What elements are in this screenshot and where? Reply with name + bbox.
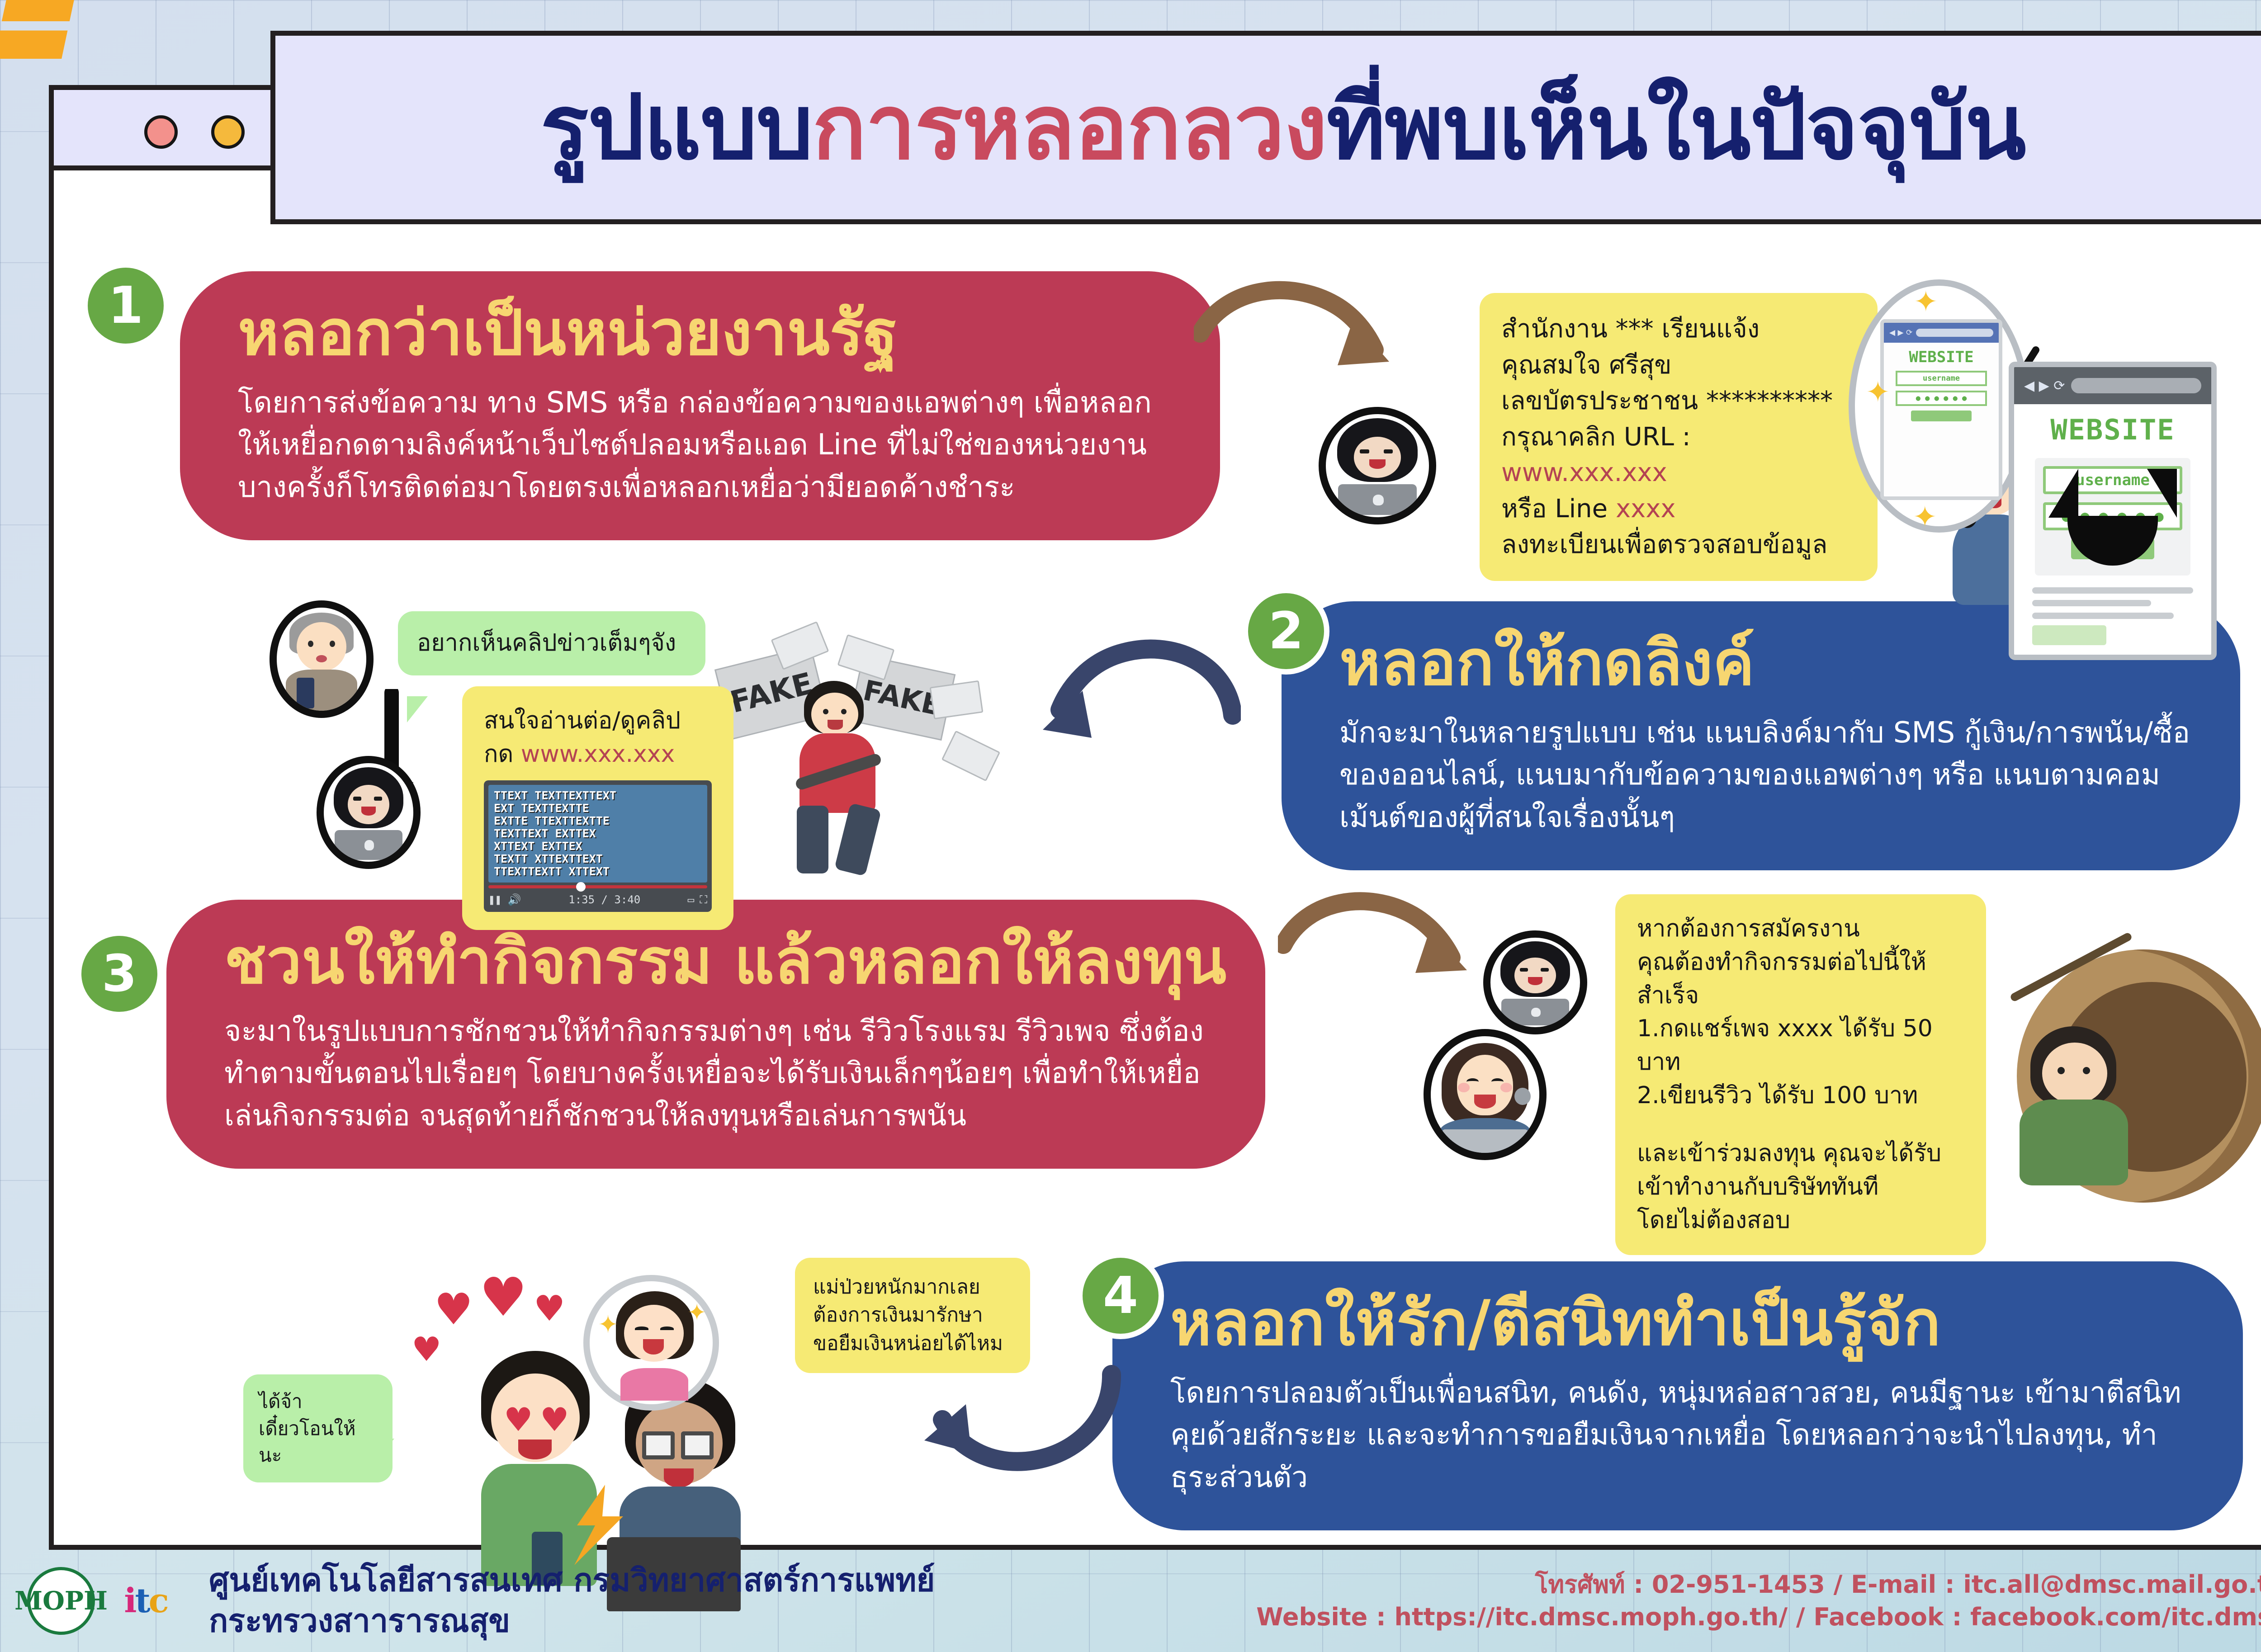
heart-icon-2: ♥ (479, 1270, 527, 1324)
footer-bar: MOPH itc ศูนย์เทคโนโลยีสารสนเทศ กรมวิทยา… (0, 1550, 2261, 1652)
sms-url-value[interactable]: www.xxx.xxx (1501, 458, 1667, 487)
borrow-line-3: ขอยืมเงินหน่อยได้ไหม (813, 1330, 1012, 1358)
lover-mouth (518, 1440, 552, 1459)
section-body-4: โดยการปลอมตัวเป็นเพื่อนสนิท, คนดัง, หนุ่… (1170, 1372, 2201, 1499)
hacker-eye-right-3 (1541, 968, 1549, 972)
section-body-2: มักจะมาในหลายรูปแบบ เช่น แนบลิงค์มากับ S… (1339, 712, 2199, 839)
itc-logo-i: i (124, 1581, 135, 1620)
video-progress-handle[interactable] (576, 882, 586, 892)
hacker-mouth-2 (361, 807, 376, 816)
video-timestamp: 1:35 / 3:40 (521, 892, 688, 907)
clickbait-line-1: สนใจอ่านต่อ/ดูคลิป (484, 704, 712, 738)
website-login-form: username ● ● ● ● ● ● (2035, 458, 2190, 576)
wish-bubble-tail (407, 696, 428, 722)
phone-url-pill[interactable] (1916, 329, 1993, 337)
video-line-4: TEXTTEXT EXTTEX (494, 827, 702, 840)
badge-number-3: 3 (102, 944, 137, 1003)
badge-number-4: 4 (1103, 1266, 1138, 1325)
elderly-mouth (316, 655, 327, 662)
arrow-curved-brown-3 (1278, 886, 1477, 1031)
sms-line-1: สำนักงาน *** เรียนแจ้ง (1501, 311, 1856, 347)
elderly-eye-right (330, 641, 335, 647)
hacker-mouth-3 (1528, 977, 1542, 985)
elderly-victim-avatar (270, 600, 374, 718)
elderly-phone (297, 678, 315, 708)
fake-website-card: ◀ ▶ ⟳ WEBSITE username ● ● ● ● ● ● (2009, 362, 2217, 660)
runner-leg-left (797, 806, 828, 873)
video-line-3: EXTTE TTEXTTEXTTE (494, 815, 702, 827)
itc-logo-t: t (135, 1581, 148, 1620)
sms-line-6: ลงทะเบียนเพื่อตรวจสอบข้อมูล (1501, 527, 1856, 563)
section-card-1: หลอกว่าเป็นหน่วยงานรัฐ โดยการส่งข้อความ … (180, 271, 1220, 540)
runner-eye-left (823, 709, 828, 714)
phone-submit-button[interactable] (1911, 411, 1972, 421)
runner-eye-right (841, 709, 847, 714)
girl-sparkle-right: ✦ (687, 1299, 706, 1326)
section-body-1: โดยการส่งข้อความ ทาง SMS หรือ กล่องข้อคว… (238, 382, 1178, 509)
arrow-curved-navy-2 (1024, 633, 1241, 782)
evil-eye-right-icon (2147, 469, 2177, 518)
website-filler-text (2032, 587, 2193, 645)
sms-line-label: หรือ Line (1501, 494, 1616, 524)
hacker-illustration (1326, 414, 1429, 517)
agree-line-2: เดี๋ยวโอนให้นะ (259, 1415, 377, 1469)
borrow-line-2: ต้องการเงินมารักษา (813, 1301, 1012, 1329)
badge-number-2: 2 (1268, 602, 1304, 661)
sms-line-3: เลขบัตรประชาชน ********** (1501, 383, 1856, 419)
video-line-5: XTTEXT EXTTEX (494, 840, 702, 853)
heart-icon-3: ♥ (534, 1291, 565, 1326)
evil-eye-left-icon (2048, 469, 2078, 518)
section-card-3: ชวนให้ทำกิจกรรม แล้วหลอกให้ลงทุน จะมาในร… (166, 900, 1265, 1169)
elderly-face (297, 622, 347, 671)
phone-browser-bar: ◀ ▶ ⟳ (1884, 323, 1999, 343)
job-line-8: โดยไม่ต้องสอบ (1637, 1204, 1964, 1237)
title-highlight: การหลอกลวง (812, 75, 1326, 179)
itc-logo-c: c (149, 1581, 167, 1620)
hacker-mouth (1369, 459, 1386, 469)
job-line-1: หากต้องการสมัครงาน (1637, 912, 1964, 946)
volume-icon[interactable]: 🔊 (508, 892, 521, 907)
section-heading-1: หลอกว่าเป็นหน่วยงานรัฐ (238, 299, 1178, 367)
trapped-person-shirt (2020, 1100, 2128, 1185)
footer-org-line-1: ศูนย์เทคโนโลยีสารสนเทศ กรมวิทยาศาสตร์การ… (209, 1560, 935, 1601)
video-progress-bar[interactable] (488, 885, 707, 888)
hacker-eye-left-3 (1520, 968, 1528, 972)
hacker-laptop (1338, 484, 1416, 515)
sparkle-icon-2: ✦ (1866, 378, 1890, 407)
hacker-illustration-2 (324, 763, 413, 862)
section-heading-3: ชวนให้ทำกิจกรรม แล้วหลอกให้ลงทุน (224, 928, 1224, 995)
sms-line-id[interactable]: xxxx (1616, 494, 1676, 524)
hacker-eye-right-2 (374, 797, 382, 801)
borrow-money-bubble: แม่ป่วยหนักมากเลย ต้องการเงินมารักษา ขอย… (795, 1258, 1030, 1373)
sms-bubble-tail (0, 0, 74, 59)
job-line-4: 2.เขียนรีวิว ได้รับ 100 บาท (1637, 1079, 1964, 1113)
agent-laptop (1442, 1129, 1528, 1153)
clickbait-line-2: กด www.xxx.xxx (484, 738, 712, 771)
hacker-face-skin-3 (1514, 958, 1556, 993)
clickbait-bubble: สนใจอ่านต่อ/ดูคลิป กด www.xxx.xxx TTEXT … (462, 686, 733, 930)
phone-mockup: ◀ ▶ ⟳ WEBSITE username ● ● ● ● ● ● (1880, 319, 2002, 500)
section-badge-1: 1 (82, 262, 169, 349)
section-badge-3: 3 (76, 930, 163, 1017)
fullscreen-icon[interactable]: ⛶ (700, 892, 707, 907)
hacker-illustration-3 (1490, 938, 1580, 1027)
video-controls: ❚❚ 🔊 1:35 / 3:40 ▭ ⛶ (488, 892, 707, 907)
footer-org-line-2: กระทรวงสาารารณสุข (209, 1601, 935, 1642)
footer-contact-info: โทรศัพท์ : 02-951-1453 / E-mail : itc.al… (1256, 1568, 2261, 1634)
trapped-person-eye-right (2083, 1067, 2090, 1074)
footer-contact-line-2[interactable]: Website : https://itc.dmsc.moph.go.th/ /… (1256, 1601, 2261, 1633)
moph-logo: MOPH (27, 1567, 95, 1635)
headset-icon (1514, 1088, 1531, 1105)
job-line-6: และเข้าร่วมลงทุน คุณจะได้รับ (1637, 1137, 1964, 1171)
agent-eye-left (1466, 1078, 1478, 1085)
video-line-2: EXT TEXTTEXTTE (494, 802, 702, 815)
scammer-mouth (664, 1468, 694, 1487)
clickbait-url[interactable]: www.xxx.xxx (521, 741, 675, 768)
footer-logos: MOPH itc (27, 1567, 182, 1635)
scammer-glasses-left (642, 1431, 675, 1459)
hacker-face-skin-2 (348, 785, 389, 824)
runner-mouth (828, 720, 843, 730)
hacker-avatar-3 (1483, 930, 1587, 1034)
sparkle-icon-3: ✦ (1913, 503, 1937, 532)
girl-mouth (643, 1339, 664, 1355)
job-offer-bubble: หากต้องการสมัครงาน คุณต้องทำกิจกรรมต่อไป… (1615, 894, 1986, 1255)
sms-url-label: กรุณาคลิก URL : (1501, 422, 1691, 452)
job-spacer (1637, 1113, 1964, 1137)
heart-eye-right-icon: ♥ (540, 1403, 569, 1436)
page-title: รูปแบบการหลอกลวงที่พบเห็นในปัจจุบัน (540, 83, 2025, 172)
phone-website-label: WEBSITE (1884, 348, 1999, 366)
close-dot[interactable] (144, 115, 178, 149)
section-card-4: หลอกให้รัก/ตีสนิททำเป็นรู้จัก โดยการปลอม… (1112, 1261, 2243, 1530)
video-line-7: TTEXTTEXTT XTTEXT (494, 865, 702, 878)
hacker-face-skin (1354, 437, 1401, 478)
agree-transfer-bubble: ได้จ้า เดี๋ยวโอนให้นะ (243, 1374, 393, 1482)
moph-logo-text: MOPH (14, 1586, 108, 1616)
sms-message-bubble: สำนักงาน *** เรียนแจ้ง คุณสมใจ ศรีสุข เล… (1480, 293, 1878, 581)
heart-icon-4: ♥ (412, 1333, 441, 1366)
pause-icon[interactable]: ❚❚ (488, 892, 501, 907)
job-line-3: 1.กดแชร์เพจ xxxx ได้รับ 50 บาท (1637, 1012, 1964, 1079)
title-banner: รูปแบบการหลอกลวงที่พบเห็นในปัจจุบัน (270, 31, 2261, 224)
running-scammer-illustration (751, 665, 941, 882)
footer-contact-line-1[interactable]: โทรศัพท์ : 02-951-1453 / E-mail : itc.al… (1256, 1568, 2261, 1601)
minimize-dot[interactable] (211, 115, 245, 149)
hacker-laptop-2 (335, 830, 402, 859)
girl-shirt (620, 1368, 688, 1401)
video-line-1: TTEXT TEXTTEXTTEXT (494, 789, 702, 802)
job-line-2: คุณต้องทำกิจกรรมต่อไปนี้ให้สำเร็จ (1637, 946, 1964, 1013)
website-nav-icons: ◀ ▶ ⟳ (2024, 378, 2065, 394)
badge-number-1: 1 (108, 276, 143, 335)
section-badge-2: 2 (1243, 588, 1329, 675)
phone-nav-icons: ◀ ▶ ⟳ (1889, 328, 1912, 337)
skull-icon-3 (1531, 1008, 1541, 1017)
scammer-glasses-right (681, 1431, 714, 1459)
phone-password-field[interactable]: ● ● ● ● ● ● (1896, 391, 1987, 406)
agent-mouth (1474, 1095, 1496, 1109)
runner-leg-right (834, 803, 881, 876)
clickbait-label: กด (484, 741, 521, 768)
job-line-7: เข้าทำงานกับบริษัททันที (1637, 1171, 1964, 1204)
video-line-6: TEXTT XTTEXTTEXT (494, 853, 702, 865)
hacker-eye-right (1384, 449, 1393, 453)
phone-username-field[interactable]: username (1896, 371, 1987, 386)
section-heading-4: หลอกให้รัก/ตีสนิททำเป็นรู้จัก (1170, 1289, 2201, 1357)
title-part-1: รูปแบบ (540, 75, 812, 179)
itc-logo: itc (109, 1567, 182, 1635)
girl-eye-left (635, 1326, 648, 1331)
video-subtitle-lines: TTEXT TEXTTEXTTEXT EXT TEXTTEXTTE EXTTE … (494, 789, 702, 878)
video-player[interactable]: TTEXT TEXTTEXTTEXT EXT TEXTTEXTTE EXTTE … (484, 780, 712, 912)
website-url-pill[interactable] (2071, 378, 2201, 393)
title-part-2: ที่พบเห็นในปัจจุบัน (1327, 75, 2025, 179)
heart-icon-1: ♥ (434, 1288, 473, 1331)
infographic-poster: รูปแบบการหลอกลวงที่พบเห็นในปัจจุบัน 1 หล… (0, 0, 2261, 1652)
trapped-person-eye-left (2058, 1067, 2065, 1074)
agent-eye-right (1491, 1078, 1503, 1085)
trapped-person-face (2042, 1043, 2107, 1104)
website-title-label: WEBSITE (2014, 413, 2211, 446)
idealized-partner-thought-bubble: ✦ ✦ (583, 1275, 719, 1411)
hacker-avatar-2 (317, 756, 421, 869)
girl-eye-right (660, 1326, 674, 1331)
sms-line-4: กรุณาคลิก URL : www.xxx.xxx (1501, 419, 1856, 491)
video-screen: TTEXT TEXTTEXTTEXT EXT TEXTTEXTTE EXTTE … (488, 785, 707, 883)
hacker-eye-left-2 (353, 797, 361, 801)
arrow-curved-brown-1 (1194, 277, 1406, 426)
footer-organization: ศูนย์เทคโนโลยีสารสนเทศ กรมวิทยาศาสตร์การ… (209, 1560, 935, 1641)
theater-mode-icon[interactable]: ▭ (688, 892, 694, 907)
heart-eye-left-icon: ♥ (504, 1403, 533, 1436)
sms-line-5: หรือ Line xxxx (1501, 491, 1856, 527)
elderly-eye-left (308, 641, 313, 647)
call-agent-avatar (1424, 1029, 1547, 1160)
sms-line-2: คุณสมใจ ศรีสุข (1501, 347, 1856, 383)
sparkle-icon-1: ✦ (1914, 288, 1938, 316)
borrow-line-1: แม่ป่วยหนักมากเลย (813, 1273, 1012, 1301)
website-browser-bar: ◀ ▶ ⟳ (2014, 367, 2211, 404)
skull-icon (1373, 495, 1384, 505)
girl-sparkle-left: ✦ (598, 1310, 618, 1339)
section-body-3: จะมาในรูปแบบการชักชวนให้ทำกิจกรรมต่างๆ เ… (224, 1010, 1224, 1137)
hacker-eye-left (1360, 449, 1369, 453)
wish-message-bubble: อยากเห็นคลิปข่าวเต็มๆจัง (398, 611, 705, 675)
skull-icon-2 (364, 840, 374, 850)
hacker-laptop-3 (1501, 999, 1569, 1025)
hacker-avatar-1 (1319, 407, 1436, 524)
wish-text: อยากเห็นคลิปข่าวเต็มๆจัง (417, 629, 676, 656)
agree-line-1: ได้จ้า (259, 1388, 377, 1415)
section-badge-4: 4 (1077, 1252, 1164, 1339)
